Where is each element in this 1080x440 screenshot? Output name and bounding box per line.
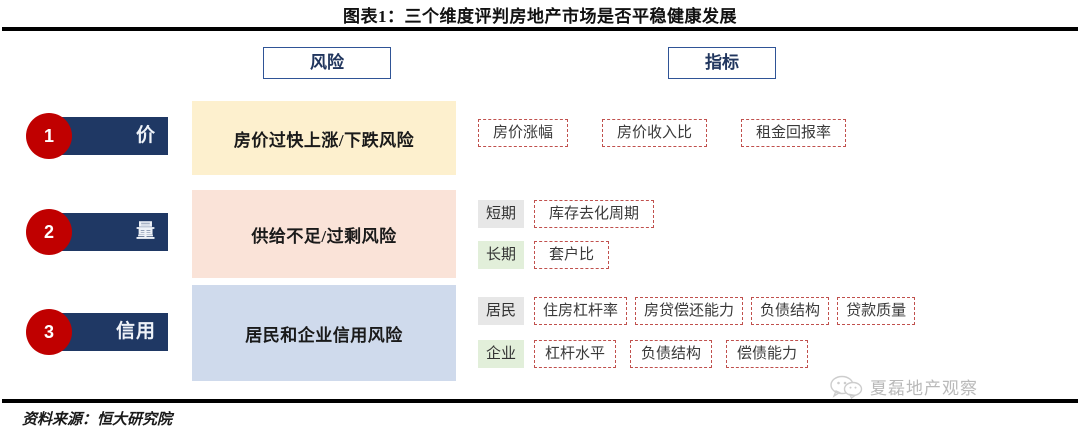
figure-container: 图表1：三个维度评判房地产市场是否平稳健康发展 风险 指标 1 价 房价过快上涨… — [0, 0, 1080, 440]
indicator-item: 房价收入比 — [602, 119, 707, 147]
risk-box-1: 房价过快上涨/下跌风险 — [192, 101, 456, 175]
indicator-item: 套户比 — [534, 241, 609, 269]
indicator-row-2-short-term: 短期 库存去化周期 — [478, 199, 668, 229]
indicator-row-2-long-term: 长期 套户比 — [478, 240, 623, 270]
indicator-row-1: 房价涨幅 房价收入比 租金回报率 — [478, 118, 880, 148]
risk-box-2: 供给不足/过剩风险 — [192, 190, 456, 278]
indicator-item: 负债结构 — [751, 297, 829, 325]
bottom-rule — [2, 399, 1078, 403]
indicator-row-3-enterprise: 企业 杠杆水平 负债结构 偿债能力 — [478, 339, 822, 369]
wechat-icon — [830, 375, 864, 399]
category-tag-enterprise: 企业 — [478, 340, 524, 368]
column-header-risk: 风险 — [263, 47, 391, 79]
indicator-row-3-household: 居民 住房杠杆率 房贷偿还能力 负债结构 贷款质量 — [478, 296, 923, 326]
source-note: 资料来源：恒大研究院 — [22, 408, 172, 429]
indicator-item: 住房杠杆率 — [534, 297, 627, 325]
top-rule — [2, 27, 1078, 31]
category-tag-household: 居民 — [478, 297, 524, 325]
indicator-item: 库存去化周期 — [534, 200, 654, 228]
dimension-label-3: 信用 — [116, 313, 156, 351]
dimension-bar-1: 1 价 — [42, 117, 168, 155]
figure-title: 图表1：三个维度评判房地产市场是否平稳健康发展 — [0, 2, 1080, 27]
dimension-bar-3: 3 信用 — [42, 313, 168, 351]
dimension-number-1: 1 — [26, 113, 72, 159]
dimension-label-2: 量 — [136, 213, 156, 251]
category-tag-long-term: 长期 — [478, 241, 524, 269]
indicator-item: 房贷偿还能力 — [635, 297, 743, 325]
indicator-item: 偿债能力 — [726, 340, 808, 368]
column-header-indicator: 指标 — [668, 47, 776, 79]
indicator-item: 房价涨幅 — [478, 119, 568, 147]
dimension-label-1: 价 — [136, 117, 156, 155]
risk-box-3: 居民和企业信用风险 — [192, 285, 456, 381]
dimension-number-3: 3 — [26, 309, 72, 355]
category-tag-short-term: 短期 — [478, 200, 524, 228]
watermark-text: 夏磊地产观察 — [870, 374, 978, 399]
indicator-item: 租金回报率 — [741, 119, 846, 147]
indicator-item: 负债结构 — [630, 340, 712, 368]
indicator-item: 杠杆水平 — [534, 340, 616, 368]
dimension-bar-2: 2 量 — [42, 213, 168, 251]
indicator-item: 贷款质量 — [837, 297, 915, 325]
watermark: 夏磊地产观察 — [830, 374, 978, 399]
dimension-number-2: 2 — [26, 209, 72, 255]
